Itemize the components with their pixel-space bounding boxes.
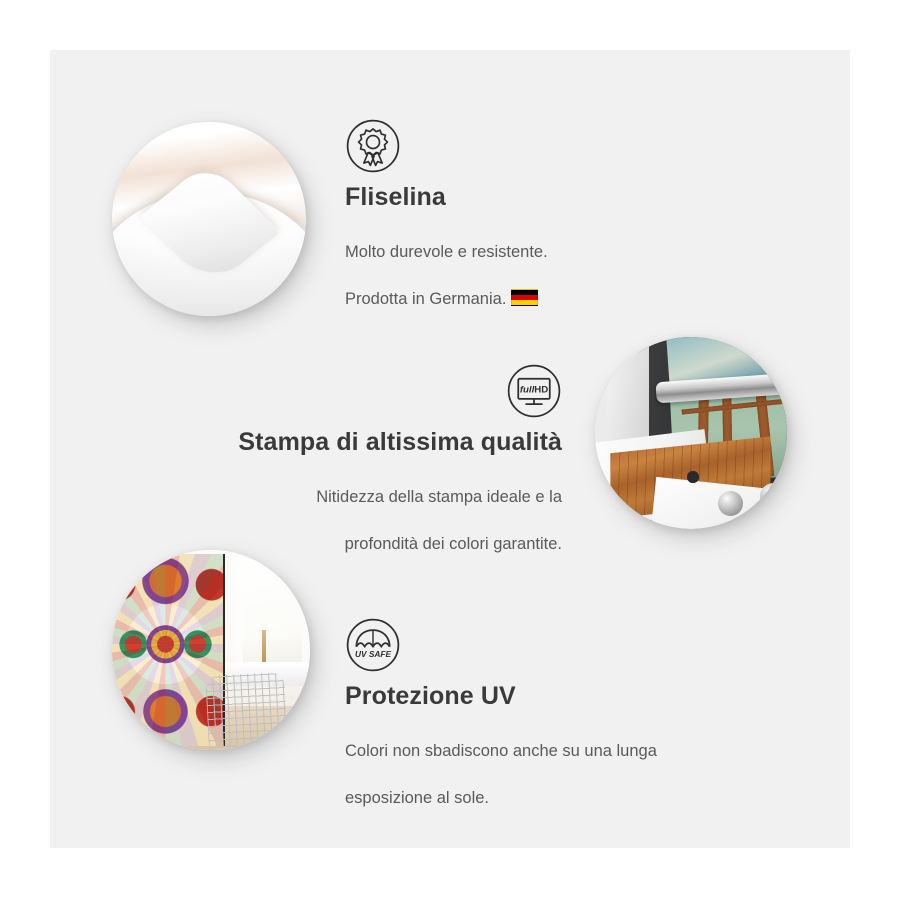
feature-description-line-2-text: Prodotta in Germania. (345, 290, 506, 308)
fullhd-icon-label: fullHD (520, 384, 548, 395)
room-window (243, 558, 302, 666)
product-feature-infographic: Fliselina Molto durevole e resistente. P… (0, 0, 900, 900)
feature-fliselina: Fliselina Molto durevole e resistente. P… (345, 118, 675, 335)
german-flag-icon (511, 289, 538, 306)
printer-knob-far-right (760, 483, 787, 510)
large-format-printer-photo (595, 337, 787, 529)
uv-safe-umbrella-icon: UV SAFE (345, 617, 401, 673)
feature-description-line-1: Nitidezza della stampa ideale e la (232, 486, 562, 509)
award-rosette-icon (345, 118, 401, 174)
feature-uv-protection: UV SAFE Protezione UV Colori non sbadisc… (345, 617, 745, 834)
printer-knob-right (718, 491, 743, 516)
fullhd-monitor-icon: fullHD (506, 363, 562, 419)
feature-description-line-1: Colori non sbadiscono anche su una lunga (345, 740, 745, 763)
printer-screw (687, 471, 699, 483)
feature-description-line-2: esposizione al sole. (345, 787, 745, 810)
feature-description: Colori non sbadiscono anche su una lunga… (345, 717, 745, 834)
feature-description: Molto durevole e resistente. Prodotta in… (345, 218, 675, 335)
wallpaper-artwork (112, 122, 306, 316)
feature-description-line-1: Molto durevole e resistente. (345, 241, 675, 264)
feature-title: Fliselina (345, 183, 675, 212)
mandala-room-artwork (112, 550, 310, 750)
wire-mesh-chair (205, 672, 288, 748)
feature-description-line-2: Prodotta in Germania. (345, 288, 675, 311)
candle-holder (262, 630, 266, 664)
feature-title: Stampa di altissima qualità (232, 428, 562, 457)
printer-artwork (595, 337, 787, 529)
wallpaper-roll-peeled-corner-photo (112, 122, 306, 316)
uv-safe-icon-label: UV SAFE (355, 649, 391, 659)
feature-title: Protezione UV (345, 682, 745, 711)
mandala-mural-interior-photo (112, 550, 310, 750)
feature-print-quality: fullHD Stampa di altissima qualità Nitid… (232, 363, 562, 580)
